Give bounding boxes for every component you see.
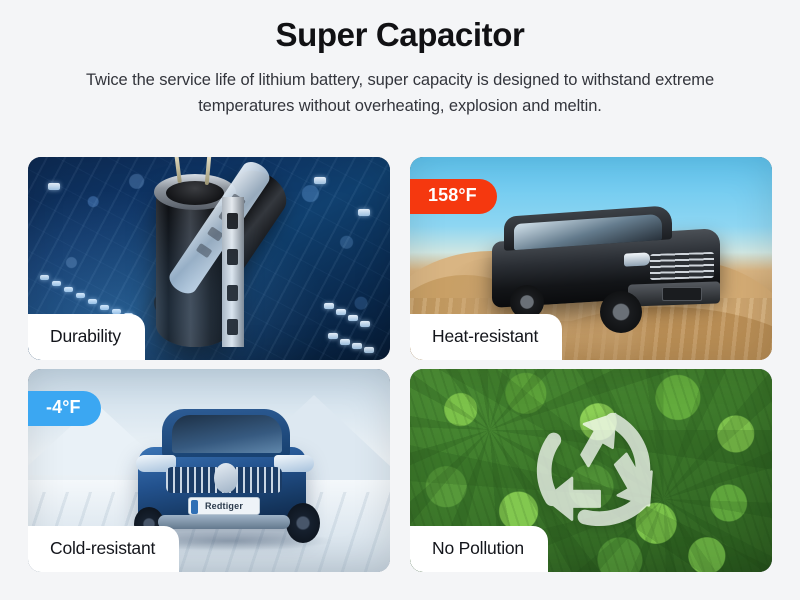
page-title: Super Capacitor — [0, 16, 800, 54]
blue-suv-vehicle: Redtiger — [132, 403, 318, 545]
card-label-cold-resistant: Cold-resistant — [28, 526, 179, 572]
card-label-durability: Durability — [28, 314, 145, 360]
page-subtitle: Twice the service life of lithium batter… — [45, 68, 755, 119]
page-header: Super Capacitor Twice the service life o… — [0, 0, 800, 119]
feature-card-cold-resistant[interactable]: Redtiger -4°F Cold-resistant — [28, 369, 390, 572]
feature-card-grid: Durability 158°F — [28, 157, 772, 572]
feature-card-heat-resistant[interactable]: 158°F Heat-resistant — [410, 157, 772, 360]
license-plate: Redtiger — [188, 497, 260, 515]
card-label-heat-resistant: Heat-resistant — [410, 314, 562, 360]
feature-card-durability[interactable]: Durability — [28, 157, 390, 360]
feature-card-no-pollution[interactable]: No Pollution — [410, 369, 772, 572]
license-plate-text: Redtiger — [205, 501, 243, 511]
suv-vehicle — [492, 209, 720, 321]
temperature-badge-cold: -4°F — [28, 391, 101, 426]
card-label-no-pollution: No Pollution — [410, 526, 548, 572]
temperature-badge-hot: 158°F — [410, 179, 497, 214]
